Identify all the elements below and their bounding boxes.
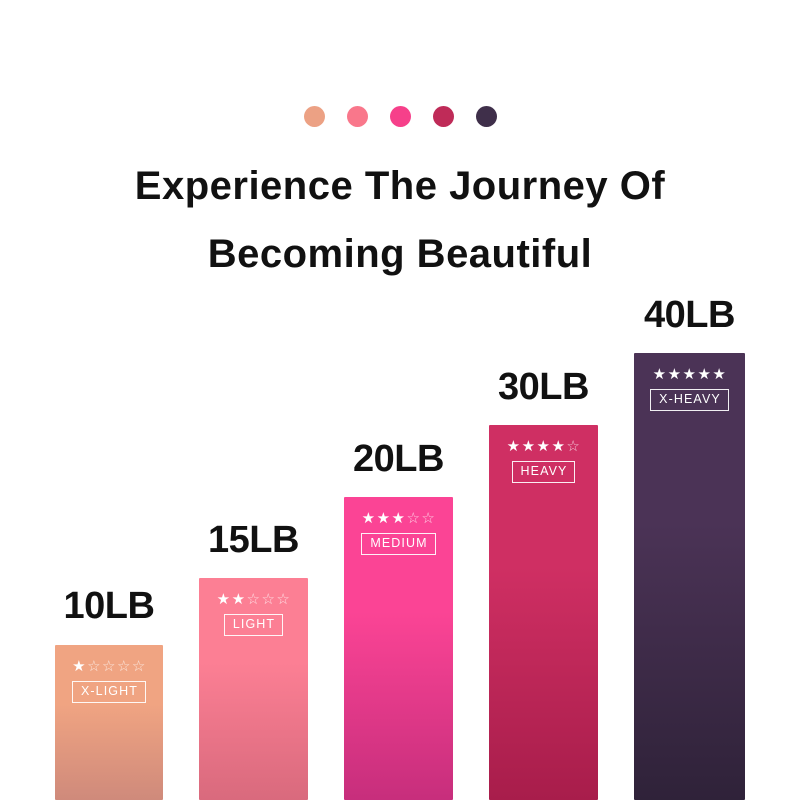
star-rating: ★☆☆☆☆ — [72, 659, 146, 674]
star-filled-icon: ★ — [72, 659, 86, 674]
bar-weight-label: 10LB — [64, 585, 155, 628]
star-filled-icon: ★ — [551, 439, 565, 454]
star-filled-icon: ★ — [392, 511, 406, 526]
bar-40lb[interactable]: ★★★★★X-HEAVY — [634, 353, 745, 800]
bar-content: ★★★☆☆MEDIUM — [344, 511, 453, 555]
star-rating: ★★☆☆☆ — [217, 592, 291, 607]
star-empty-icon: ☆ — [102, 659, 116, 674]
star-filled-icon: ★ — [232, 592, 246, 607]
bar-20lb[interactable]: ★★★☆☆MEDIUM — [344, 497, 453, 800]
star-filled-icon: ★ — [537, 439, 551, 454]
bar-content: ★☆☆☆☆X-LIGHT — [55, 659, 163, 703]
bar-group-10lb[interactable]: 10LB★☆☆☆☆X-LIGHT — [55, 0, 163, 800]
star-filled-icon: ★ — [362, 511, 376, 526]
star-filled-icon: ★ — [653, 367, 667, 382]
star-empty-icon: ☆ — [421, 511, 435, 526]
bar-content: ★★★★★X-HEAVY — [634, 367, 745, 411]
infographic-root: Experience The Journey Of Becoming Beaut… — [0, 0, 800, 800]
bar-group-30lb[interactable]: 30LB★★★★☆HEAVY — [489, 0, 598, 800]
star-empty-icon: ☆ — [117, 659, 131, 674]
star-empty-icon: ☆ — [132, 659, 146, 674]
star-empty-icon: ☆ — [247, 592, 261, 607]
bar-group-40lb[interactable]: 40LB★★★★★X-HEAVY — [634, 0, 745, 800]
star-empty-icon: ☆ — [566, 439, 580, 454]
resistance-level-badge: HEAVY — [512, 461, 576, 483]
resistance-level-badge: LIGHT — [224, 614, 283, 636]
bar-group-20lb[interactable]: 20LB★★★☆☆MEDIUM — [344, 0, 453, 800]
resistance-level-badge: X-HEAVY — [650, 389, 729, 411]
star-empty-icon: ☆ — [261, 592, 275, 607]
bar-group-15lb[interactable]: 15LB★★☆☆☆LIGHT — [199, 0, 308, 800]
star-filled-icon: ★ — [217, 592, 231, 607]
bar-content: ★★★★☆HEAVY — [489, 439, 598, 483]
star-filled-icon: ★ — [683, 367, 697, 382]
star-filled-icon: ★ — [507, 439, 521, 454]
bar-15lb[interactable]: ★★☆☆☆LIGHT — [199, 578, 308, 800]
bar-weight-label: 15LB — [208, 519, 299, 562]
star-filled-icon: ★ — [377, 511, 391, 526]
star-rating: ★★★★★ — [653, 367, 727, 382]
star-empty-icon: ☆ — [87, 659, 101, 674]
star-filled-icon: ★ — [522, 439, 536, 454]
star-empty-icon: ☆ — [276, 592, 290, 607]
bar-10lb[interactable]: ★☆☆☆☆X-LIGHT — [55, 645, 163, 800]
bar-content: ★★☆☆☆LIGHT — [199, 592, 308, 636]
star-filled-icon: ★ — [712, 367, 726, 382]
bar-weight-label: 20LB — [353, 438, 444, 481]
star-filled-icon: ★ — [697, 367, 711, 382]
star-empty-icon: ☆ — [406, 511, 420, 526]
bar-30lb[interactable]: ★★★★☆HEAVY — [489, 425, 598, 800]
resistance-level-badge: X-LIGHT — [72, 681, 146, 703]
resistance-level-badge: MEDIUM — [361, 533, 435, 555]
star-filled-icon: ★ — [668, 367, 682, 382]
bar-weight-label: 40LB — [644, 294, 735, 337]
resistance-bar-chart: 10LB★☆☆☆☆X-LIGHT15LB★★☆☆☆LIGHT20LB★★★☆☆M… — [0, 0, 800, 800]
bar-weight-label: 30LB — [498, 366, 589, 409]
star-rating: ★★★☆☆ — [362, 511, 436, 526]
star-rating: ★★★★☆ — [507, 439, 581, 454]
